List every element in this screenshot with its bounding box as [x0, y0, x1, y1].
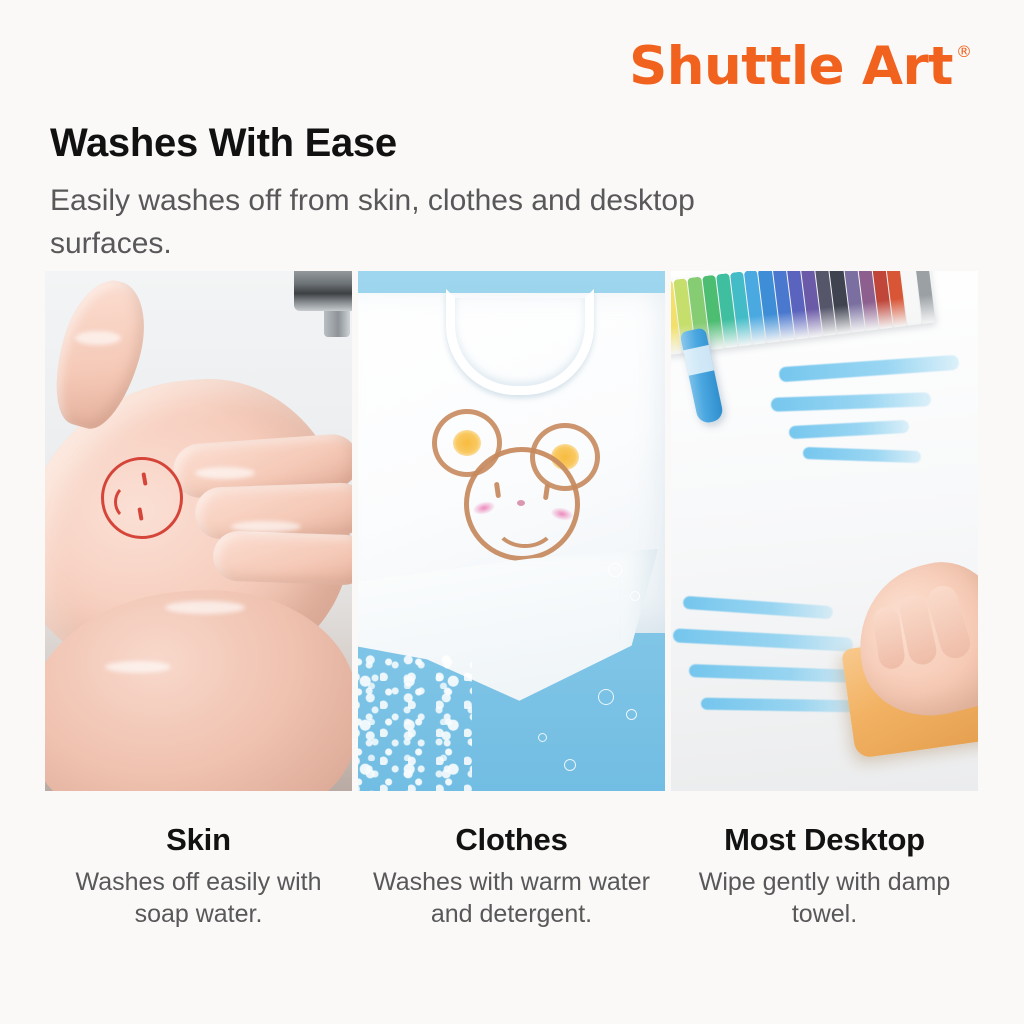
crayon-stroke	[779, 355, 960, 383]
crayon-stroke	[701, 698, 861, 713]
feature-captions: Skin Washes off easily with soap water. …	[45, 822, 979, 930]
water-highlight	[75, 331, 121, 345]
crayon-stroke	[771, 392, 931, 412]
panel-image-desktop	[671, 271, 978, 791]
feature-panels	[45, 271, 979, 791]
bear-mouth	[493, 496, 557, 548]
water-highlight	[105, 661, 171, 673]
registered-trademark-icon: ®	[956, 44, 972, 60]
caption-title-skin: Skin	[45, 822, 352, 858]
water-highlight	[195, 467, 255, 479]
crayon-label	[683, 345, 714, 376]
bear-head-outline	[464, 447, 580, 561]
caption-body-desktop: Wipe gently with damp towel.	[671, 866, 978, 930]
bear-face-drawing	[430, 409, 600, 559]
crayon-stroke	[789, 420, 910, 439]
water-bubble	[598, 689, 614, 705]
water-bubble	[564, 759, 576, 771]
crayon-stroke	[803, 447, 921, 463]
caption-desktop: Most Desktop Wipe gently with damp towel…	[671, 822, 978, 930]
bear-eye-right	[543, 484, 550, 501]
brand-logo: Shuttle Art ®	[629, 40, 972, 93]
caption-title-desktop: Most Desktop	[671, 822, 978, 858]
bear-ear-fill	[453, 430, 481, 456]
brand-name: Shuttle Art	[629, 40, 953, 93]
caption-body-skin: Washes off easily with soap water.	[45, 866, 352, 930]
caption-clothes: Clothes Washes with warm water and deter…	[358, 822, 665, 930]
smiley-mouth	[114, 484, 146, 520]
water-bubble	[538, 733, 547, 742]
panel-image-skin	[45, 271, 352, 791]
bear-eye-left	[494, 482, 501, 499]
water-highlight	[165, 601, 245, 614]
caption-skin: Skin Washes off easily with soap water.	[45, 822, 352, 930]
crayon-tray	[671, 271, 936, 355]
faucet-icon	[294, 271, 352, 311]
water-bubble	[630, 591, 640, 601]
ring-finger-shape	[212, 530, 352, 585]
crayon-stroke	[673, 628, 853, 651]
caption-title-clothes: Clothes	[358, 822, 665, 858]
water-bubble	[608, 563, 622, 577]
crayon-stroke	[689, 664, 859, 683]
faucet-neck	[324, 311, 350, 337]
page-subtitle: Easily washes off from skin, clothes and…	[50, 180, 730, 265]
smiley-eye-left	[141, 472, 147, 485]
red-smiley-drawing	[101, 457, 183, 539]
soap-foam	[358, 653, 472, 791]
water-bubble	[626, 709, 637, 720]
bear-blush-left	[472, 500, 496, 517]
water-highlight	[231, 521, 301, 532]
caption-body-clothes: Washes with warm water and detergent.	[358, 866, 665, 930]
crayon-stroke	[683, 596, 834, 619]
panel-image-clothes	[358, 271, 665, 791]
page-title: Washes With Ease	[50, 121, 397, 166]
